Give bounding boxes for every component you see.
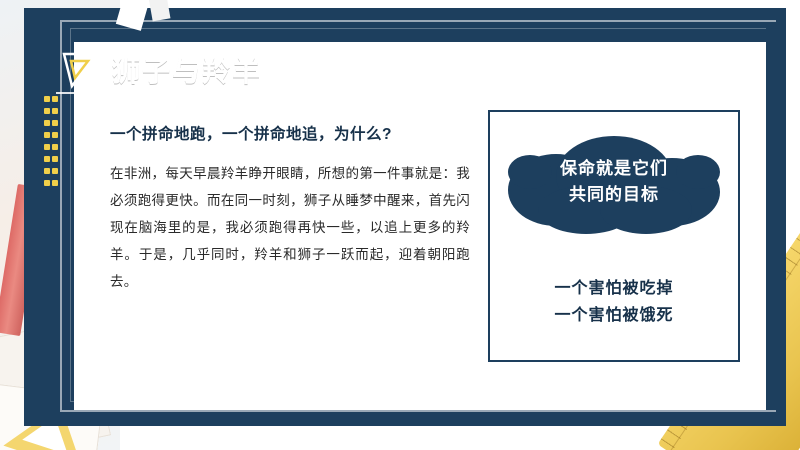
page-title: 狮子与羚羊: [112, 50, 262, 90]
triangle-logo-icon: [60, 50, 100, 90]
slide-canvas: 狮子与羚羊 一个拼命地跑，一个拼命地追，为什么? 在非洲，每天早晨羚羊睁开眼睛，…: [0, 0, 800, 450]
slide-title-group: 狮子与羚羊: [60, 50, 262, 90]
body-paragraph: 在非洲，每天早晨羚羊睁开眼睛，所想的第一件事就是：我必须跑得更快。而在同一时刻，…: [110, 160, 470, 295]
cloud-shape: 保命就是它们 共同的目标: [500, 132, 728, 236]
body-text-block: 一个拼命地跑，一个拼命地追，为什么? 在非洲，每天早晨羚羊睁开眼睛，所想的第一件…: [110, 122, 470, 295]
right-line-2: 一个害怕被饿死: [500, 302, 728, 329]
right-callout-lines: 一个害怕被吃掉 一个害怕被饿死: [500, 275, 728, 329]
cloud-text-line-1: 保命就是它们: [500, 156, 728, 182]
dot-grid-decor: [44, 96, 60, 188]
cloud-text-line-2: 共同的目标: [500, 182, 728, 208]
lead-question: 一个拼命地跑，一个拼命地追，为什么?: [110, 122, 470, 144]
title-divider: [56, 92, 746, 94]
cloud-text: 保命就是它们 共同的目标: [500, 156, 728, 207]
right-line-1: 一个害怕被吃掉: [500, 275, 728, 302]
